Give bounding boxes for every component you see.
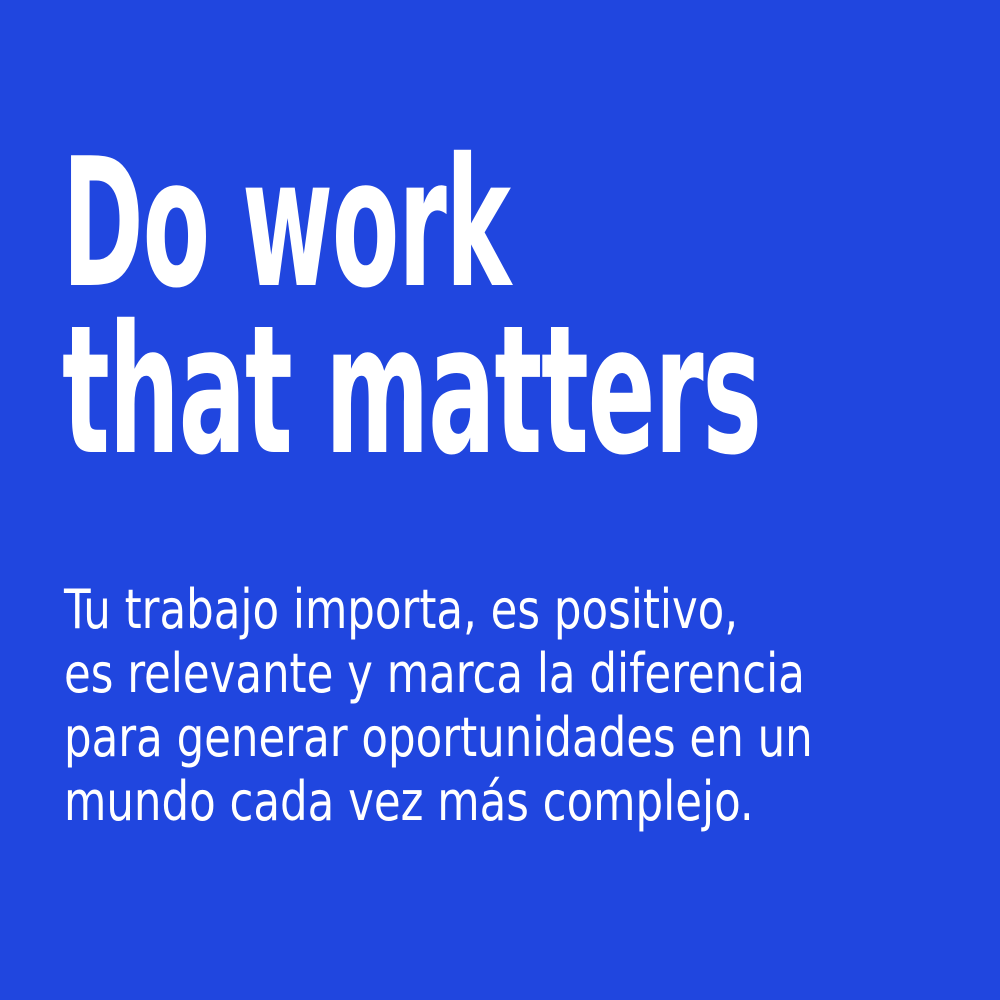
headline-line-1: Do work [62,140,616,307]
page-title: Do work that matters [62,140,962,474]
body-paragraph: Tu trabajo importa, es positivo, es rele… [64,578,984,834]
body-line-1: Tu trabajo importa, es positivo, [64,578,887,642]
body-line-3: para generar oportunidades en un [64,706,887,770]
poster-canvas: Do work that matters Tu trabajo importa,… [0,0,1000,1000]
body-line-4: mundo cada vez más complejo. [64,770,887,834]
body-line-2: es relevante y marca la diferencia [64,642,887,706]
headline-line-2: that matters [62,307,625,474]
